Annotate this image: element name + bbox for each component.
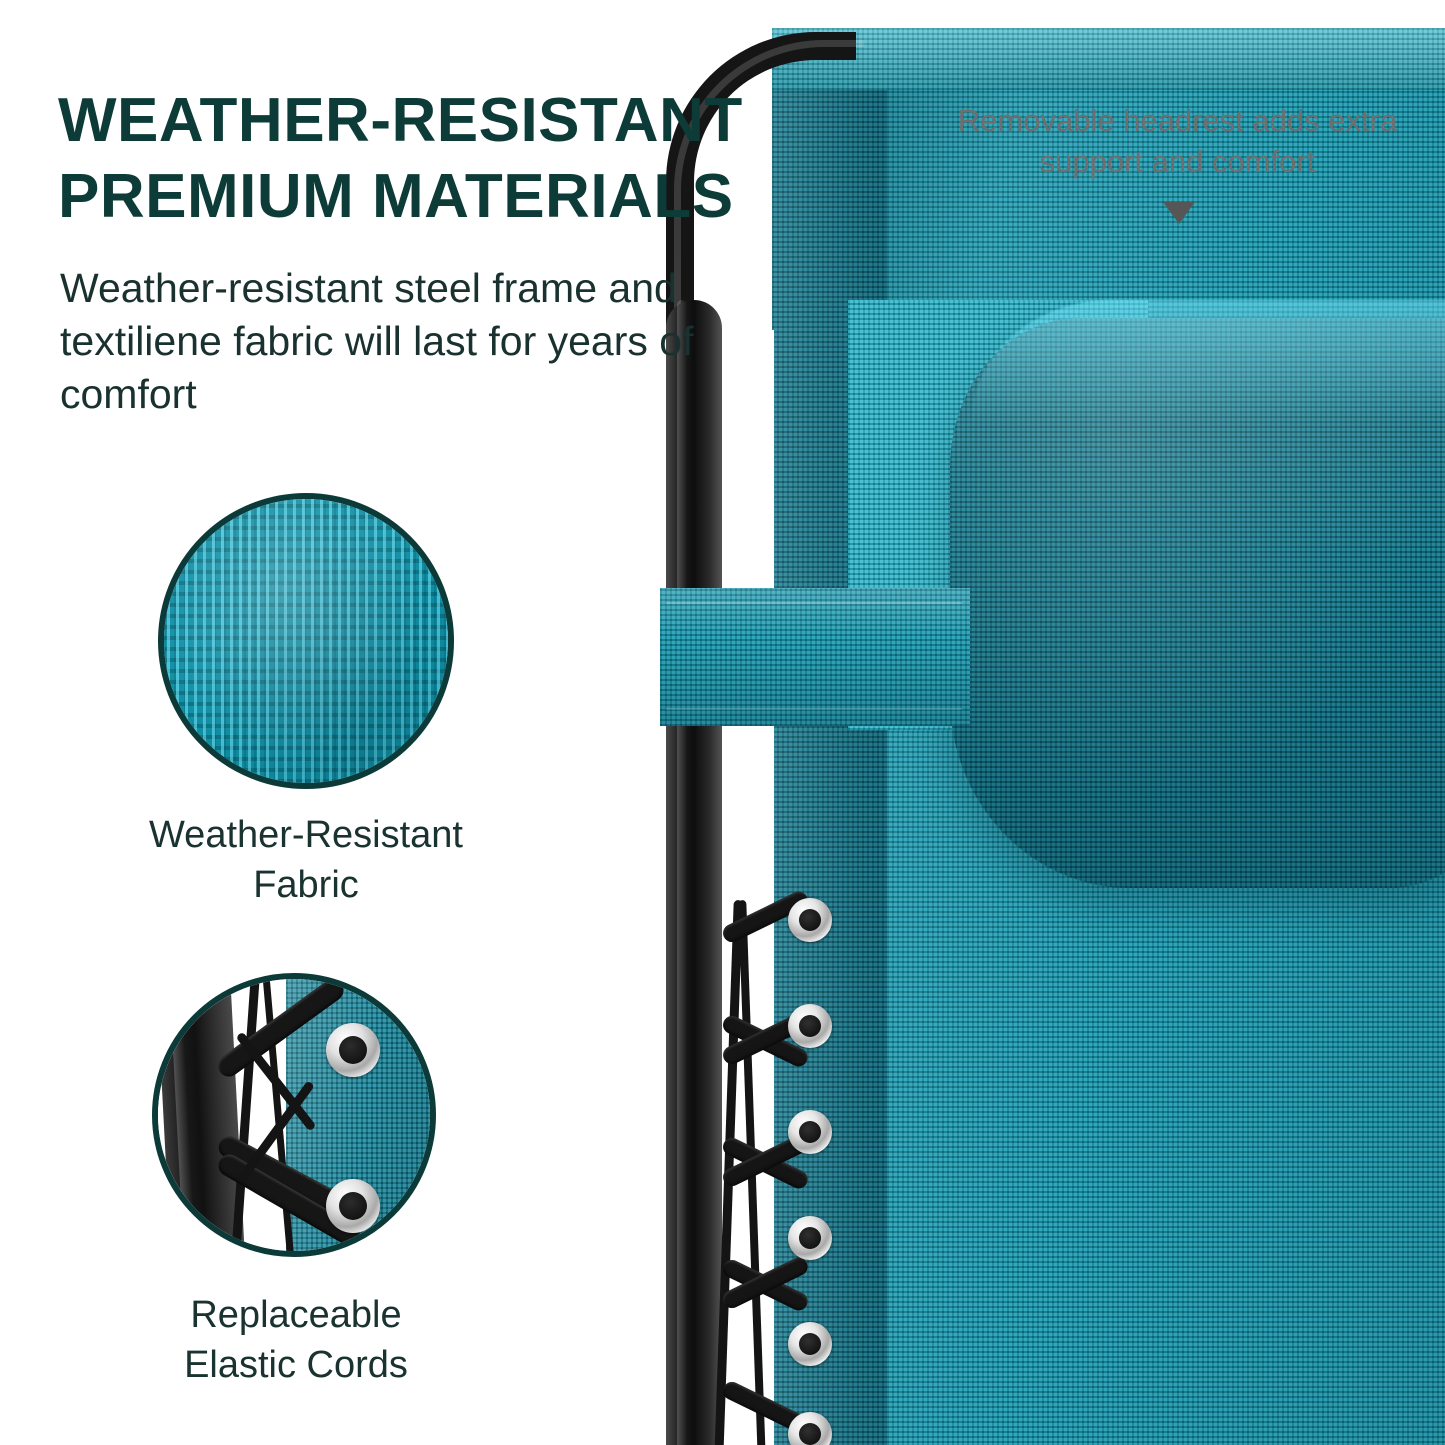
cord-closeup-scene <box>158 979 430 1251</box>
headrest-callout-text: Removable headrest adds extra support an… <box>930 100 1425 182</box>
fabric-weave-swatch-icon <box>158 493 454 789</box>
strap-stitch <box>666 602 962 604</box>
elastic-cord-grommet-icon <box>152 973 436 1257</box>
strap-stitch <box>666 708 962 710</box>
fabric-strap <box>660 588 970 726</box>
feature-label-cords-line-1: Replaceable <box>56 1290 536 1340</box>
headline-line-2: PREMIUM MATERIALS <box>58 159 888 235</box>
grommet <box>788 1004 832 1048</box>
feature-label-fabric-line-1: Weather-Resistant <box>46 810 566 860</box>
feature-label-cords: Replaceable Elastic Cords <box>56 1290 536 1390</box>
page-subtitle: Weather-resistant steel frame and textil… <box>60 262 700 421</box>
page-title: WEATHER-RESISTANT PREMIUM MATERIALS <box>58 83 888 235</box>
marketing-infographic: WEATHER-RESISTANT PREMIUM MATERIALS Weat… <box>0 0 1445 1445</box>
feature-label-fabric-line-2: Fabric <box>46 860 566 910</box>
grommet <box>788 898 832 942</box>
grommet <box>788 1322 832 1366</box>
pillow-highlight-rim <box>972 300 1445 480</box>
frame-tube-vertical <box>666 300 722 1445</box>
grommet <box>326 1179 380 1233</box>
grommet <box>326 1023 380 1077</box>
cord-scene-frame-tube <box>155 973 246 1257</box>
fabric-top-hem <box>772 28 1445 90</box>
triangle-down-icon <box>1163 202 1195 224</box>
feature-label-fabric: Weather-Resistant Fabric <box>46 810 566 910</box>
feature-label-cords-line-2: Elastic Cords <box>56 1340 536 1390</box>
fabric-weave-texture <box>164 499 448 783</box>
grommet <box>788 1216 832 1260</box>
headline-line-1: WEATHER-RESISTANT <box>58 83 888 159</box>
grommet <box>788 1110 832 1154</box>
